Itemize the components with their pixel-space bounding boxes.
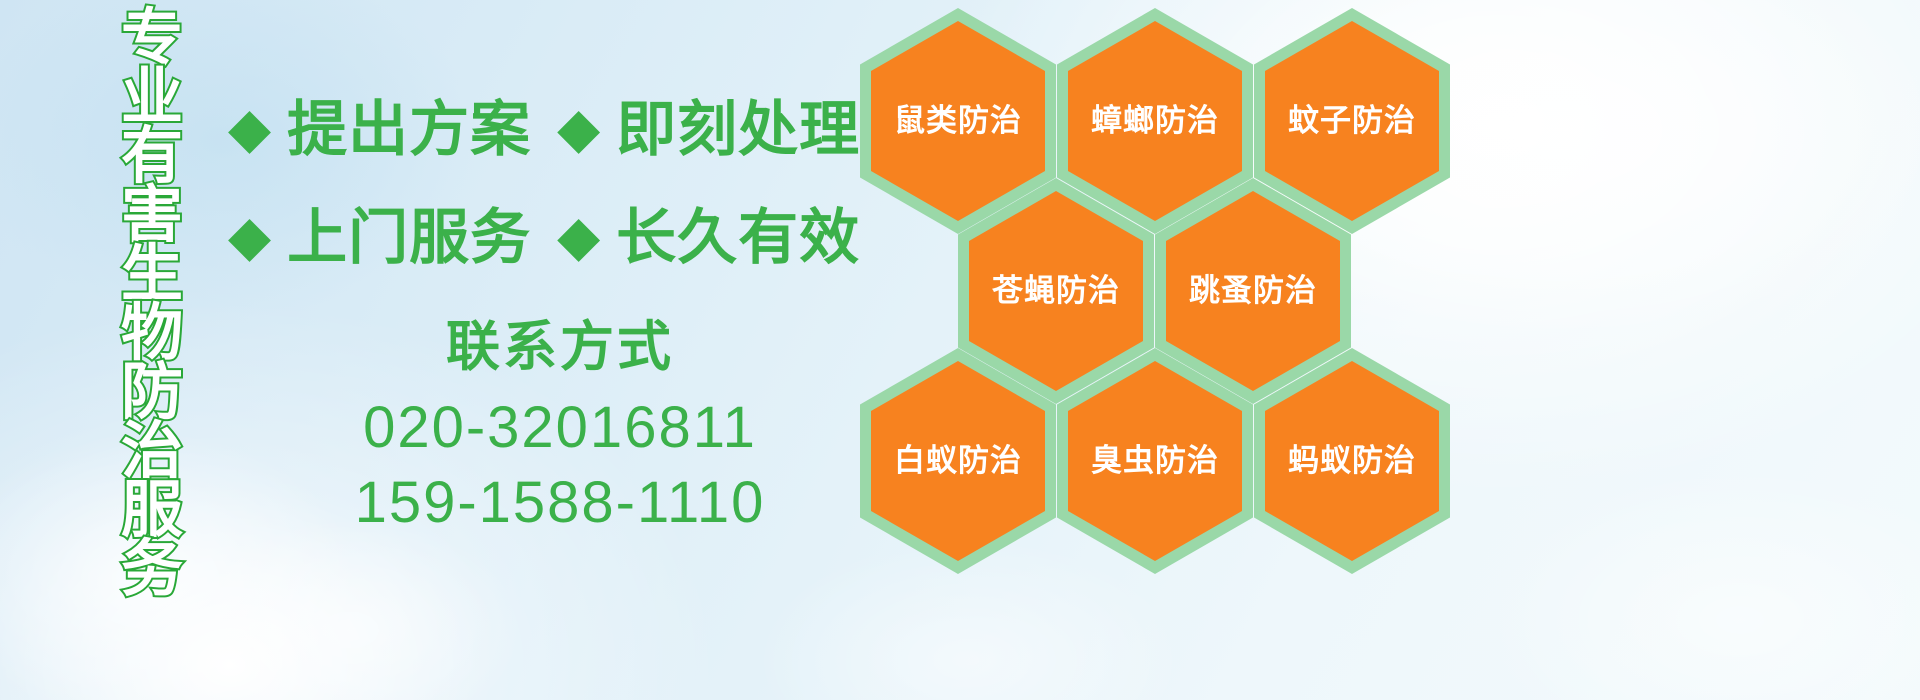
phone-number-mobile[interactable]: 159-1588-1110 bbox=[260, 466, 860, 540]
vertical-slogan-char: 物 bbox=[121, 305, 183, 362]
hexagon-shape: 蚂蚁防治 bbox=[1254, 348, 1450, 574]
hexagon-shape: 臭虫防治 bbox=[1057, 348, 1253, 574]
hexagon-inner: 白蚁防治 bbox=[871, 361, 1045, 561]
hex-label: 跳蚤防治 bbox=[1189, 274, 1317, 308]
banner-canvas: 专 业 有 害 生 物 防 治 服 务 ◆ 提出方案 ◆ 即刻处理 ◆ 上门服务 bbox=[0, 0, 1920, 700]
diamond-icon: ◆ bbox=[228, 100, 271, 156]
background-blob bbox=[1480, 470, 1920, 700]
hexagon-inner: 蚂蚁防治 bbox=[1265, 361, 1439, 561]
vertical-slogan-char: 治 bbox=[121, 423, 183, 480]
vertical-slogan-char: 防 bbox=[121, 364, 183, 421]
contact-block: 联系方式 020-32016811 159-1588-1110 bbox=[260, 318, 860, 540]
hex-label: 白蚁防治 bbox=[894, 444, 1022, 478]
hex-cell-termite-control[interactable]: 白蚁防治 bbox=[860, 348, 1056, 574]
vertical-slogan-char: 生 bbox=[121, 246, 183, 303]
hex-label: 臭虫防治 bbox=[1091, 444, 1219, 478]
hex-cell-bedbug-control[interactable]: 臭虫防治 bbox=[1057, 348, 1253, 574]
hex-cell-ant-control[interactable]: 蚂蚁防治 bbox=[1254, 348, 1450, 574]
feature-item-long-lasting: ◆ 长久有效 bbox=[557, 208, 860, 268]
vertical-slogan-char: 有 bbox=[121, 128, 183, 185]
feature-label: 提出方案 bbox=[287, 100, 531, 160]
hexagon-inner: 臭虫防治 bbox=[1068, 361, 1242, 561]
diamond-icon: ◆ bbox=[557, 100, 600, 156]
vertical-slogan-char: 专 bbox=[121, 10, 183, 67]
feature-row: ◆ 上门服务 ◆ 长久有效 bbox=[228, 184, 860, 292]
hex-label: 苍蝇防治 bbox=[992, 274, 1120, 308]
vertical-slogan-char: 害 bbox=[121, 187, 183, 244]
hex-label: 蟑螂防治 bbox=[1091, 104, 1219, 138]
diamond-icon: ◆ bbox=[557, 208, 600, 264]
hex-label: 鼠类防治 bbox=[894, 104, 1022, 138]
feature-label: 长久有效 bbox=[616, 208, 860, 268]
feature-item-propose-plan: ◆ 提出方案 bbox=[228, 100, 531, 160]
vertical-slogan-char: 业 bbox=[121, 69, 183, 126]
service-honeycomb: 鼠类防治 蟑螂防治 蚊子防治 苍蝇防治 bbox=[852, 0, 1472, 580]
phone-number-landline[interactable]: 020-32016811 bbox=[260, 391, 860, 465]
feature-label: 上门服务 bbox=[287, 208, 531, 268]
feature-label: 即刻处理 bbox=[616, 100, 860, 160]
hex-label: 蚊子防治 bbox=[1288, 104, 1416, 138]
hex-label: 蚂蚁防治 bbox=[1288, 444, 1416, 478]
feature-item-door-to-door-service: ◆ 上门服务 bbox=[228, 208, 531, 268]
background-blob bbox=[180, 520, 520, 700]
diamond-icon: ◆ bbox=[228, 208, 271, 264]
vertical-slogan-char: 服 bbox=[121, 482, 183, 539]
feature-row: ◆ 提出方案 ◆ 即刻处理 bbox=[228, 76, 860, 184]
contact-title: 联系方式 bbox=[260, 318, 860, 377]
hexagon-shape: 白蚁防治 bbox=[860, 348, 1056, 574]
vertical-slogan: 专 业 有 害 生 物 防 治 服 务 bbox=[104, 10, 200, 600]
vertical-slogan-char: 务 bbox=[121, 541, 183, 598]
feature-list: ◆ 提出方案 ◆ 即刻处理 ◆ 上门服务 ◆ 长久有效 bbox=[228, 76, 860, 292]
feature-item-immediate-treatment: ◆ 即刻处理 bbox=[557, 100, 860, 160]
